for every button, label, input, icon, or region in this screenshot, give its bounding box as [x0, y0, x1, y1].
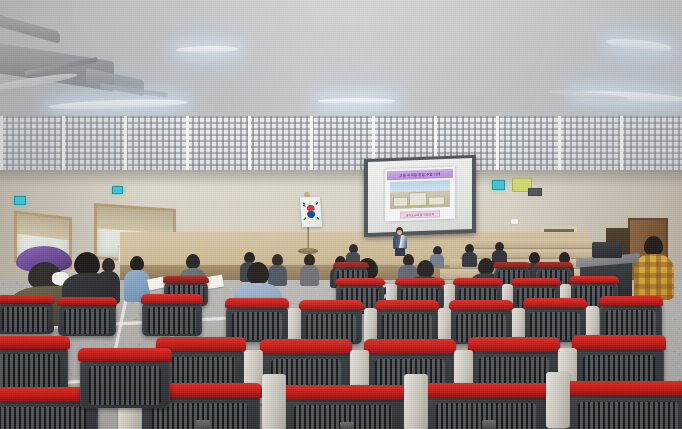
- seat-cushion: [535, 262, 572, 268]
- presenter: [392, 227, 408, 255]
- seat-cushion: [422, 383, 551, 398]
- seat-back-ribs: [606, 310, 656, 338]
- seat-cushion: [163, 276, 209, 283]
- seat-back-ribs: [530, 312, 580, 340]
- seat-cushion: [280, 385, 407, 400]
- presenter-torso: [393, 235, 407, 249]
- seat-back-ribs: [306, 314, 356, 342]
- auditorium-seat[interactable]: [142, 300, 202, 336]
- seat-back-ribs: [578, 402, 677, 429]
- seat-armrest: [546, 372, 570, 428]
- seat-cushion: [468, 337, 560, 352]
- projection-screen: 고등 미래형 통합 수업 사례 경기도교육청 미래교육: [364, 155, 476, 237]
- taeguk-blue-half: [307, 211, 315, 218]
- seat-back-ribs: [2, 307, 48, 332]
- seat-cushion: [569, 276, 619, 283]
- window-blind: [17, 214, 69, 241]
- seat-cushion: [333, 262, 368, 268]
- trigram-bar: [303, 217, 306, 220]
- auditorium-seat[interactable]: [58, 302, 116, 336]
- seat-cushion: [599, 296, 663, 306]
- seat-back-ribs: [0, 354, 60, 391]
- seat-pedestal: [196, 420, 210, 429]
- seat-cushion: [299, 300, 363, 310]
- acoustic-band-shading: [0, 116, 682, 178]
- slide-photo-field: [405, 204, 433, 207]
- projected-slide: 고등 미래형 통합 수업 사례 경기도교육청 미래교육: [385, 166, 456, 221]
- seat-cushion: [523, 298, 587, 308]
- exit-sign-left: [14, 196, 26, 205]
- attendee-head: [130, 256, 144, 271]
- seat-cushion: [260, 339, 352, 354]
- exit-sign-center-left: [112, 186, 123, 194]
- slide-footer: 경기도교육청 미래교육: [400, 211, 440, 219]
- seat-cushion: [0, 336, 70, 349]
- stage-step: [470, 239, 593, 249]
- seat-back-ribs: [0, 407, 86, 429]
- attendee-head: [247, 262, 269, 285]
- trigram-bar: [317, 217, 320, 220]
- attendee-torso: [634, 254, 674, 300]
- trigram-bar: [316, 202, 319, 205]
- slide-photo: [390, 180, 451, 209]
- seat-back-ribs: [232, 312, 282, 340]
- attendee-row3: [300, 254, 319, 284]
- wall-speaker-right: [528, 188, 542, 196]
- seat-cushion: [57, 297, 117, 306]
- attendee-head: [644, 236, 663, 256]
- seat-pedestal: [340, 422, 354, 429]
- seat-cushion: [364, 339, 456, 354]
- seat-cushion: [225, 298, 289, 308]
- seat-back-ribs: [148, 307, 196, 334]
- auditorium-seat-front[interactable]: [566, 390, 682, 429]
- seat-back-ribs: [64, 309, 110, 334]
- korean-national-flag: [300, 197, 322, 227]
- seat-back-ribs: [89, 366, 161, 404]
- seat-cushion: [78, 348, 172, 362]
- seat-cushion: [0, 295, 55, 304]
- seat-cushion: [449, 300, 513, 310]
- auditorium-seat-front-left[interactable]: [80, 356, 170, 408]
- seat-cushion: [335, 278, 385, 285]
- attendee-torso: [300, 265, 319, 286]
- projection-screen-surface: 고등 미래형 통합 수업 사례 경기도교육청 미래교육: [368, 158, 472, 233]
- trigram-bar: [302, 205, 305, 208]
- seat-cushion: [141, 294, 203, 303]
- seat-cushion: [511, 278, 561, 285]
- seat-cushion: [453, 278, 503, 285]
- seat-armrest: [262, 374, 286, 429]
- seat-back-ribs: [382, 314, 432, 342]
- auditorium-photo: 고등 미래형 통합 수업 사례 경기도교육청 미래교육: [0, 0, 682, 429]
- seat-armrest: [404, 374, 428, 429]
- window-blind: [97, 206, 173, 233]
- auditorium-seat[interactable]: [226, 304, 288, 342]
- seat-cushion: [564, 381, 682, 396]
- attendee-plaid-right: [634, 236, 674, 298]
- exit-sign-right: [492, 180, 505, 190]
- seat-cushion: [572, 335, 666, 350]
- attendee-head: [186, 254, 200, 269]
- slide-title: 고등 미래형 통합 수업 사례: [387, 169, 452, 180]
- seat-cushion: [395, 278, 445, 285]
- wall-switch-plate[interactable]: [510, 218, 519, 225]
- seat-cushion: [375, 300, 439, 310]
- acoustic-wall-panels: [0, 116, 682, 178]
- seat-pedestal: [482, 420, 496, 429]
- av-monitor-rear: [592, 242, 622, 258]
- seat-cushion: [493, 262, 530, 268]
- auditorium-seat[interactable]: [0, 300, 54, 334]
